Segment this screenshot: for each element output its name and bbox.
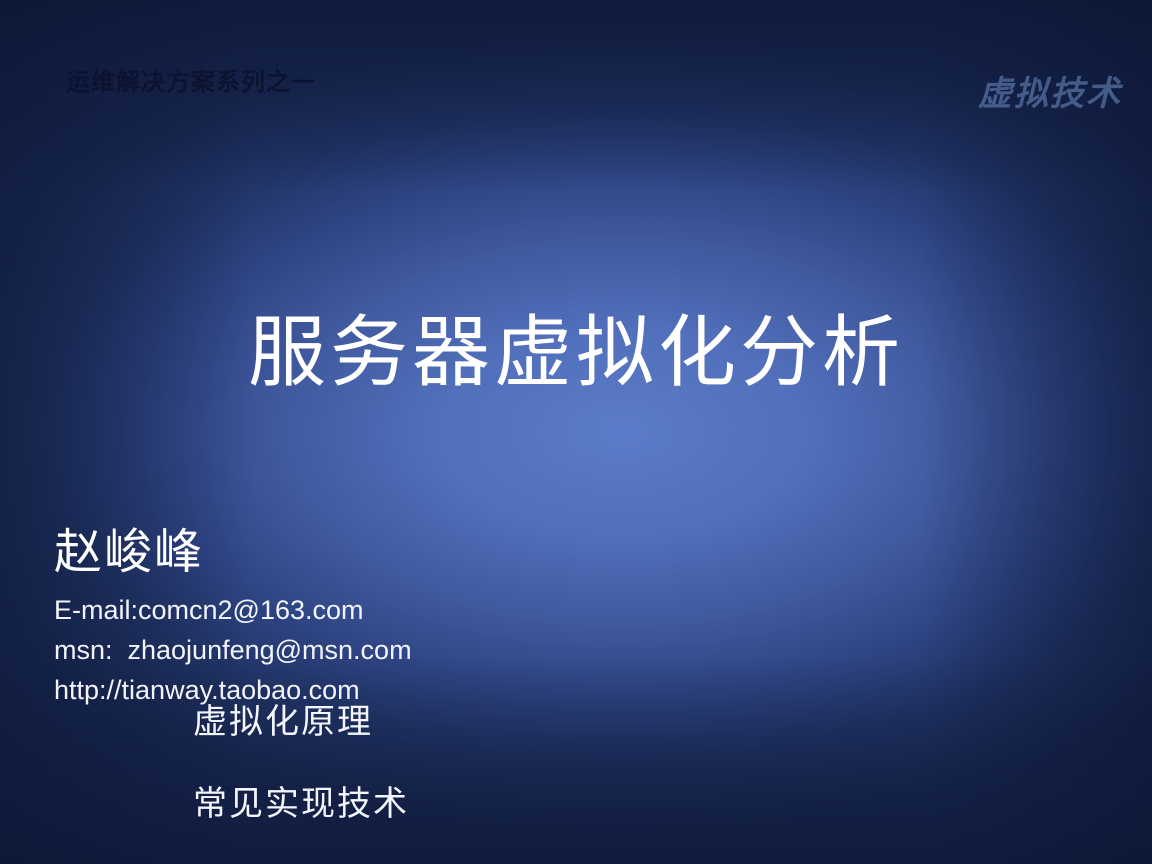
agenda-item-1: 虚拟化原理 (193, 694, 373, 743)
contact-msn: msn: zhaojunfeng@msn.com (54, 630, 412, 670)
contact-email: E-mail:comcn2@163.com (54, 590, 412, 630)
contact-block: E-mail:comcn2@163.com msn: zhaojunfeng@m… (54, 590, 412, 710)
author-name: 赵峻峰 (54, 528, 204, 578)
series-kicker: 运维解决方案系列之一 (66, 62, 316, 97)
agenda-item-2: 常见实现技术 (193, 776, 409, 825)
presentation-slide: 运维解决方案系列之一 虚拟技术 服务器虚拟化分析 赵峻峰 E-mail:comc… (0, 0, 1152, 864)
background-vignette (0, 0, 1152, 864)
brand-watermark: 虚拟技术 (978, 66, 1122, 115)
page-title: 服务器虚拟化分析 (0, 312, 1152, 394)
